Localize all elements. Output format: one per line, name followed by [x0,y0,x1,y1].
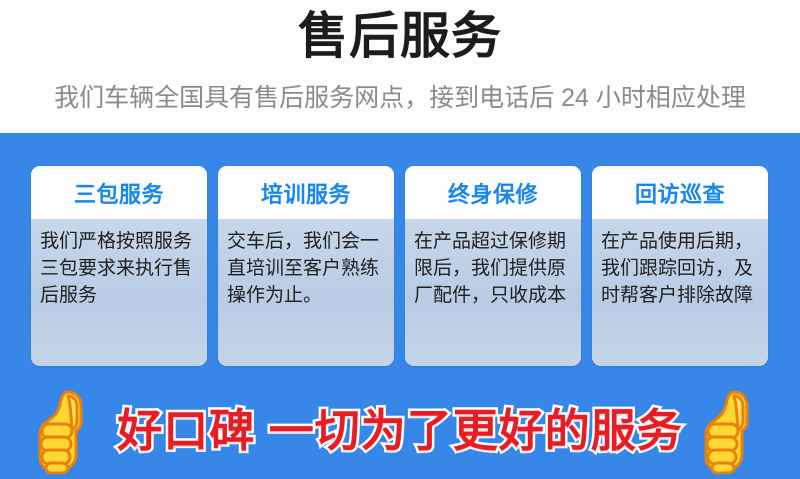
service-card[interactable]: 培训服务 交车后，我们会一直培训至客户熟练操作为止。 [218,166,394,366]
service-card-header: 终身保修 [405,166,581,219]
service-card[interactable]: 终身保修 在产品超过保修期限后，我们提供原厂配件，只收成本 [405,166,581,366]
service-card-text: 在产品使用后期，我们跟踪回访，及时帮客户排除故障 [601,228,759,309]
service-cards-row: 三包服务 我们严格按照服务三包要求来执行售后服务 培训服务 交车后，我们会一直培… [31,166,768,366]
service-card-text: 交车后，我们会一直培训至客户熟练操作为止。 [227,228,385,309]
promo-banner-page: 售后服务 我们车辆全国具有售后服务网点，接到电话后 24 小时相应处理 三包服务… [0,0,800,479]
page-title: 售后服务 [0,6,800,66]
service-card-body: 在产品使用后期，我们跟踪回访，及时帮客户排除故障 [592,219,768,366]
slogan-text: 好口碑 一切为了更好的服务 [117,401,683,461]
service-card-text: 在产品超过保修期限后，我们提供原厂配件，只收成本 [414,228,572,309]
service-card-body: 交车后，我们会一直培训至客户熟练操作为止。 [218,219,394,366]
service-card[interactable]: 回访巡查 在产品使用后期，我们跟踪回访，及时帮客户排除故障 [592,166,768,366]
page-subtitle: 我们车辆全国具有售后服务网点，接到电话后 24 小时相应处理 [0,80,800,116]
service-card-header: 三包服务 [31,166,207,219]
service-card-header: 回访巡查 [592,166,768,219]
service-card-text: 我们严格按照服务三包要求来执行售后服务 [40,228,198,309]
thumbs-up-icon [35,388,99,474]
service-card-title: 终身保修 [448,177,538,209]
service-card-header: 培训服务 [218,166,394,219]
slogan-banner: 好口碑 一切为了更好的服务 [0,383,800,479]
service-card-title: 培训服务 [261,177,351,209]
blue-content-panel: 三包服务 我们严格按照服务三包要求来执行售后服务 培训服务 交车后，我们会一直培… [0,133,800,479]
service-card[interactable]: 三包服务 我们严格按照服务三包要求来执行售后服务 [31,166,207,366]
service-card-title: 三包服务 [74,177,164,209]
header-section: 售后服务 我们车辆全国具有售后服务网点，接到电话后 24 小时相应处理 [0,0,800,133]
service-card-title: 回访巡查 [635,177,725,209]
service-card-body: 我们严格按照服务三包要求来执行售后服务 [31,219,207,366]
service-card-body: 在产品超过保修期限后，我们提供原厂配件，只收成本 [405,219,581,366]
thumbs-up-icon [701,388,765,474]
